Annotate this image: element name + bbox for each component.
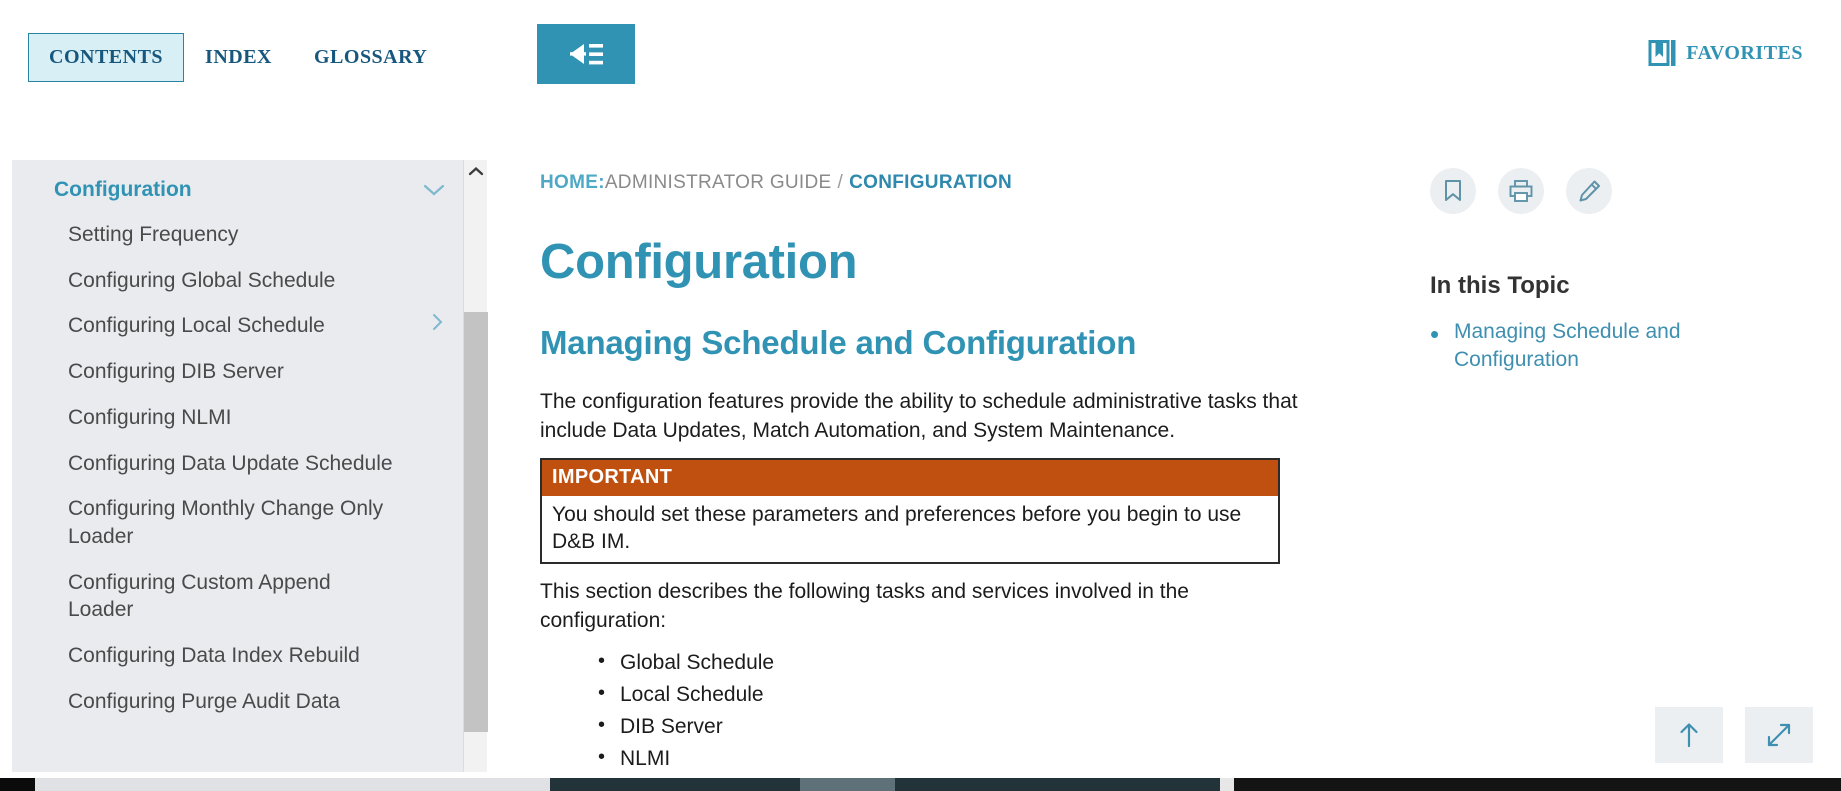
bottom-segment <box>800 778 895 791</box>
contents-sidebar[interactable]: Configuration Setting Frequency Configur… <box>12 160 475 772</box>
list-item: DIB Server <box>620 711 1400 743</box>
sidebar-item-configuring-data-index-rebuild[interactable]: Configuring Data Index Rebuild <box>12 633 475 679</box>
sidebar-item-configuring-nlmi[interactable]: Configuring NLMI <box>12 395 475 441</box>
window-bottom-edge <box>0 778 1841 791</box>
scrollbar-thumb[interactable] <box>464 312 488 732</box>
highlighter-icon <box>1576 179 1602 203</box>
page-title: Configuration <box>540 234 1400 290</box>
chevron-up-icon <box>468 166 484 177</box>
bottom-segment <box>1220 778 1234 791</box>
sidebar-group-configuration[interactable]: Configuration <box>12 160 475 212</box>
sidebar-item-label: Configuring Global Schedule <box>68 267 335 295</box>
expand-view-button[interactable] <box>1745 707 1813 763</box>
expand-diagonal-icon <box>1765 721 1793 749</box>
arrow-up-icon <box>1677 721 1701 749</box>
sidebar-item-label: Configuring Purge Audit Data <box>68 688 340 716</box>
breadcrumb: HOME:ADMINISTRATOR GUIDE/CONFIGURATION <box>540 160 1400 194</box>
important-callout: IMPORTANT You should set these parameter… <box>540 458 1280 564</box>
sidebar-item-configuring-monthly-change-only-loader[interactable]: Configuring Monthly Change Only Loader <box>12 486 475 559</box>
breadcrumb-home[interactable]: HOME: <box>540 172 605 193</box>
bottom-segment <box>895 778 1220 791</box>
callout-body: You should set these parameters and pref… <box>542 496 1278 562</box>
scrollbar-up-button[interactable] <box>464 160 488 182</box>
top-navigation-bar: CONTENTS INDEX GLOSSARY FAVORITES <box>0 0 1841 128</box>
breadcrumb-middle[interactable]: ADMINISTRATOR GUIDE <box>605 172 832 193</box>
sidebar-item-label: Configuring Data Index Rebuild <box>68 642 360 670</box>
print-button[interactable] <box>1498 168 1544 214</box>
topic-content-pane: HOME:ADMINISTRATOR GUIDE/CONFIGURATION C… <box>540 160 1400 772</box>
sidebar-item-label: Setting Frequency <box>68 221 238 249</box>
list-intro-paragraph: This section describes the following tas… <box>540 578 1300 636</box>
collapse-panel-button[interactable] <box>537 24 635 84</box>
breadcrumb-current: CONFIGURATION <box>849 172 1012 193</box>
bookmark-button[interactable] <box>1430 168 1476 214</box>
list-item: NLMI <box>620 743 1400 772</box>
section-title: Managing Schedule and Configuration <box>540 324 1400 362</box>
bookmark-icon <box>1442 179 1464 203</box>
list-item: Local Schedule <box>620 679 1400 711</box>
breadcrumb-separator: / <box>832 172 850 193</box>
scroll-to-top-button[interactable] <box>1655 707 1723 763</box>
sidebar-item-configuring-local-schedule[interactable]: Configuring Local Schedule <box>12 303 475 349</box>
tab-glossary[interactable]: GLOSSARY <box>293 33 448 82</box>
sidebar-item-label: Configuring Monthly Change Only Loader <box>68 495 398 550</box>
favorites-button[interactable]: FAVORITES <box>1647 38 1803 68</box>
bottom-segment <box>0 778 35 791</box>
sidebar-item-label: Configuring Custom Append Loader <box>68 569 398 624</box>
chevron-right-icon[interactable] <box>431 312 445 332</box>
favorites-book-icon <box>1647 38 1677 68</box>
sidebar-item-label: Configuring Data Update Schedule <box>68 450 393 478</box>
sidebar-group-label: Configuration <box>54 178 192 202</box>
sidebar-item-label: Configuring Local Schedule <box>68 312 325 340</box>
list-item: Global Schedule <box>620 647 1400 679</box>
collapse-panel-icon <box>564 37 608 71</box>
topic-link[interactable]: Managing Schedule and Configuration <box>1430 318 1720 374</box>
floating-action-buttons <box>1655 707 1813 763</box>
nav-tab-group: CONTENTS INDEX GLOSSARY <box>28 33 448 82</box>
task-list: Global Schedule Local Schedule DIB Serve… <box>540 647 1400 772</box>
sidebar-item-label: Configuring DIB Server <box>68 358 284 386</box>
sidebar-item-configuring-dib-server[interactable]: Configuring DIB Server <box>12 349 475 395</box>
in-this-topic-list: Managing Schedule and Configuration <box>1430 318 1830 374</box>
sidebar-item-configuring-custom-append-loader[interactable]: Configuring Custom Append Loader <box>12 560 475 633</box>
callout-heading: IMPORTANT <box>542 460 1278 496</box>
topic-sidebar-rail: In this Topic Managing Schedule and Conf… <box>1430 160 1830 772</box>
sidebar-item-label: Configuring NLMI <box>68 404 231 432</box>
bottom-segment <box>550 778 800 791</box>
topic-action-buttons <box>1430 160 1830 214</box>
favorites-label: FAVORITES <box>1686 42 1803 65</box>
chevron-down-icon[interactable] <box>423 183 445 197</box>
tab-index[interactable]: INDEX <box>184 33 293 82</box>
sidebar-item-configuring-data-update-schedule[interactable]: Configuring Data Update Schedule <box>12 441 475 487</box>
bottom-segment <box>35 778 550 791</box>
sidebar-scrollbar[interactable] <box>463 160 487 772</box>
intro-paragraph: The configuration features provide the a… <box>540 388 1300 446</box>
sidebar-item-configuring-purge-audit-data[interactable]: Configuring Purge Audit Data <box>12 679 475 725</box>
tab-contents[interactable]: CONTENTS <box>28 33 184 82</box>
sidebar-item-configuring-global-schedule[interactable]: Configuring Global Schedule <box>12 258 475 304</box>
sidebar-item-setting-frequency[interactable]: Setting Frequency <box>12 212 475 258</box>
print-icon <box>1508 179 1534 203</box>
highlighter-button[interactable] <box>1566 168 1612 214</box>
in-this-topic-title: In this Topic <box>1430 272 1830 300</box>
help-viewer-page: CONTENTS INDEX GLOSSARY FAVORITES <box>0 0 1841 791</box>
